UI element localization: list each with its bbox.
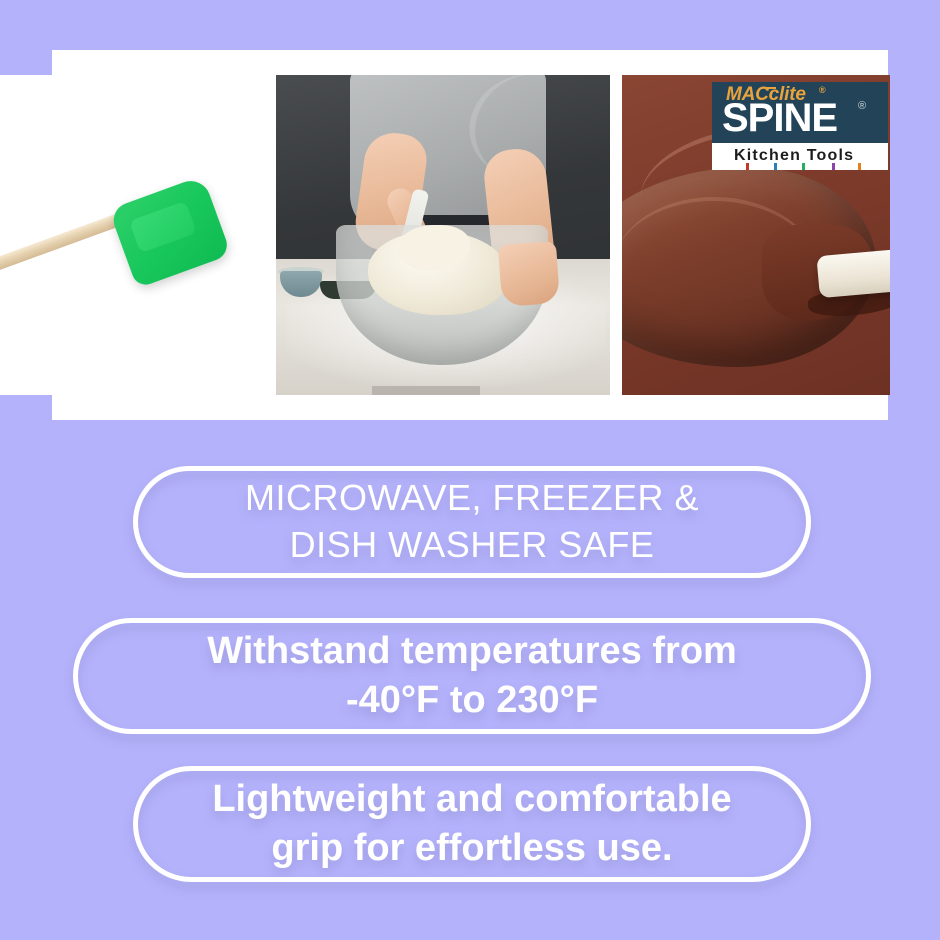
feature-pill-line-1: MICROWAVE, FREEZER & (245, 475, 699, 522)
counter-edge (372, 386, 480, 395)
logo-spine-registered-mark: ® (858, 100, 866, 112)
feature-pill-line-1: Withstand temperatures from (207, 627, 737, 676)
feature-pill-text: MICROWAVE, FREEZER & DISH WASHER SAFE (245, 475, 699, 569)
feature-pill-line-2: -40°F to 230°F (207, 676, 737, 725)
utensil-accent-icon (832, 163, 835, 170)
feature-pill-microwave-freezer-dishwasher-safe: MICROWAVE, FREEZER & DISH WASHER SAFE (133, 466, 811, 578)
brand-logo: MACclite ® SPINE ® Kitchen Tools (712, 82, 888, 170)
feature-pill-line-2: grip for effortless use. (212, 824, 731, 873)
utensil-accent-icon (802, 163, 805, 170)
utensil-accent-icon (746, 163, 749, 170)
mixing-bowl-image (276, 75, 610, 395)
logo-spine-text: SPINE (722, 98, 837, 138)
right-hand-fingers (498, 241, 560, 307)
feature-pill-line-2: DISH WASHER SAFE (245, 522, 699, 569)
logo-tagline-text: Kitchen Tools (734, 146, 854, 166)
feature-pill-lightweight-grip: Lightweight and comfortable grip for eff… (133, 766, 811, 882)
feature-pill-text: Lightweight and comfortable grip for eff… (212, 775, 731, 872)
spatula-product-image (0, 75, 276, 395)
feature-pill-line-1: Lightweight and comfortable (212, 775, 731, 824)
logo-tagline-strip: Kitchen Tools (712, 143, 888, 170)
logo-macclite-registered-mark: ® (819, 85, 826, 95)
feature-pill-temperature-range: Withstand temperatures from -40°F to 230… (73, 618, 871, 734)
utensil-accent-icon (774, 163, 777, 170)
utensil-accent-icon (858, 163, 861, 170)
logo-macclite-overbar (765, 87, 776, 89)
feature-pill-text: Withstand temperatures from -40°F to 230… (207, 627, 737, 724)
logo-dark-panel: MACclite ® SPINE ® (712, 82, 888, 143)
